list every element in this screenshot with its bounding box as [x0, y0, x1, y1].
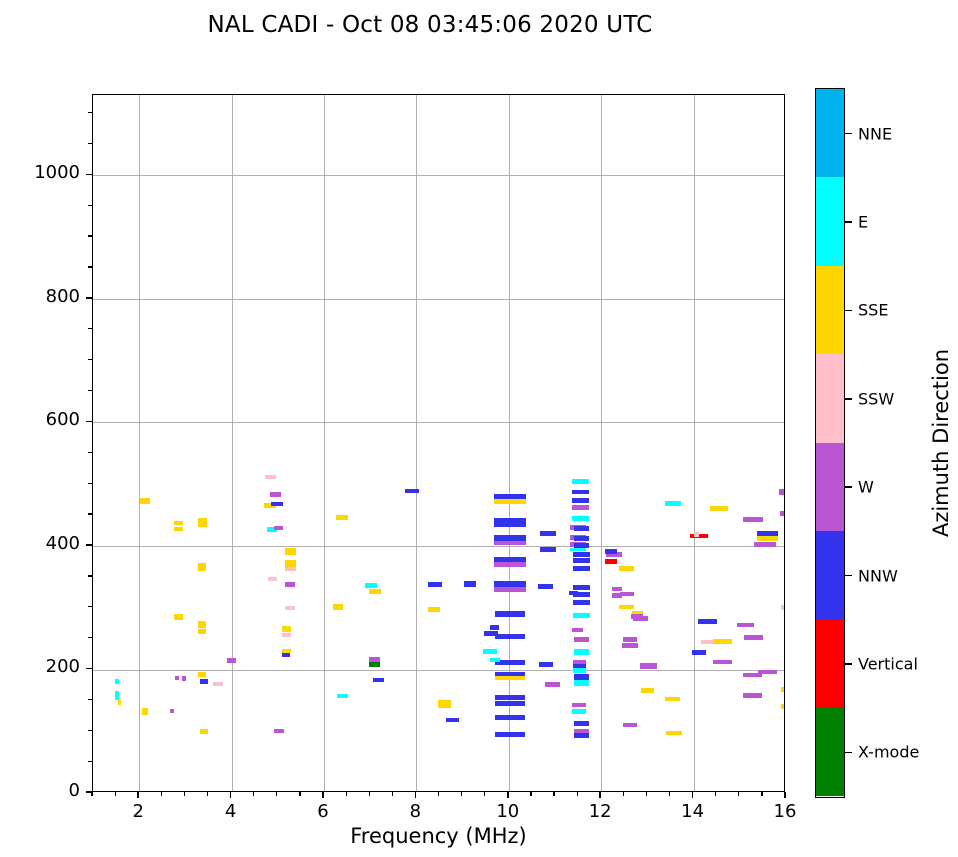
echo-mark — [665, 697, 680, 702]
gridline-vertical — [416, 95, 417, 791]
echo-mark — [545, 682, 561, 687]
echo-mark — [118, 700, 121, 705]
echo-mark — [572, 709, 586, 715]
gridline-horizontal — [93, 670, 784, 671]
echo-mark — [494, 518, 526, 528]
echo-mark — [265, 475, 276, 479]
echo-mark — [574, 637, 589, 642]
x-axis-tick — [415, 792, 417, 798]
echo-mark — [365, 583, 377, 588]
echo-mark — [690, 534, 708, 539]
y-axis-tick — [86, 668, 92, 670]
echo-mark — [619, 566, 635, 571]
echo-mark — [495, 715, 526, 721]
colorbar-segment-w — [816, 443, 844, 531]
x-axis-minor-tick — [738, 792, 739, 796]
x-axis-minor-tick — [553, 792, 554, 796]
echo-mark — [640, 663, 657, 669]
echo-mark — [170, 709, 174, 713]
echo-mark — [572, 505, 590, 511]
echo-mark — [612, 593, 622, 598]
y-axis-minor-tick — [88, 235, 92, 236]
colorbar-label-ssw: SSW — [858, 389, 894, 408]
x-axis-minor-tick — [91, 792, 92, 796]
x-axis-minor-tick — [276, 792, 277, 796]
echo-mark — [213, 682, 223, 686]
y-axis-minor-tick — [88, 483, 92, 484]
y-axis-minor-tick — [88, 699, 92, 700]
echo-mark — [605, 559, 617, 564]
echo-mark — [757, 531, 777, 536]
y-axis-tick — [86, 174, 92, 176]
echo-mark — [268, 577, 277, 581]
echo-mark — [200, 729, 207, 734]
gridline-vertical — [139, 95, 140, 791]
plot-area — [92, 94, 785, 792]
x-axis-minor-tick — [253, 792, 254, 796]
colorbar-segment-nnw — [816, 531, 844, 619]
echo-mark — [574, 733, 589, 738]
echo-mark — [540, 547, 556, 552]
x-axis-tick — [507, 792, 509, 798]
echo-mark — [743, 693, 762, 698]
echo-mark — [781, 704, 786, 709]
echo-mark — [182, 676, 186, 681]
echo-mark — [369, 657, 380, 662]
x-axis-minor-tick — [184, 792, 185, 796]
colorbar-segment-x-mode — [816, 708, 844, 796]
x-axis-tick-label: 10 — [483, 801, 533, 822]
x-axis-tick-label: 6 — [298, 801, 348, 822]
x-axis-minor-tick — [392, 792, 393, 796]
gridline-horizontal — [93, 299, 784, 300]
echo-mark — [200, 679, 207, 684]
y-axis-minor-tick — [88, 730, 92, 731]
gridline-vertical — [694, 95, 695, 791]
echo-mark — [274, 526, 283, 530]
x-axis-minor-tick — [484, 792, 485, 796]
x-axis-tick — [322, 792, 324, 798]
echo-mark — [495, 732, 526, 738]
y-axis-minor-tick — [88, 205, 92, 206]
echo-mark — [495, 634, 526, 640]
echo-mark — [605, 549, 617, 553]
x-axis-minor-tick — [530, 792, 531, 796]
colorbar-segment-ssw — [816, 354, 844, 442]
echo-mark — [464, 581, 477, 587]
echo-mark — [428, 582, 442, 587]
colorbar-tick — [845, 398, 852, 400]
echo-mark — [282, 633, 291, 637]
echo-mark — [713, 639, 732, 645]
x-axis-minor-tick — [299, 792, 300, 796]
echo-mark — [572, 516, 590, 521]
x-axis-minor-tick — [623, 792, 624, 796]
echo-mark — [285, 567, 296, 571]
colorbar-label-sse: SSE — [858, 301, 888, 320]
echo-mark — [574, 536, 590, 541]
echo-mark — [495, 695, 526, 700]
echo-mark — [758, 670, 777, 675]
echo-mark — [701, 640, 713, 644]
y-axis-tick — [86, 297, 92, 299]
echo-mark — [428, 607, 440, 612]
echo-mark — [574, 674, 590, 680]
echo-mark — [574, 649, 590, 655]
colorbar-label-w: W — [858, 478, 874, 497]
x-axis-minor-tick — [715, 792, 716, 796]
y-axis-tick — [86, 421, 92, 423]
echo-mark — [757, 536, 777, 540]
echo-mark — [570, 548, 586, 552]
echo-mark — [490, 658, 500, 662]
x-axis-tick — [692, 792, 694, 798]
y-axis-tick-label: 0 — [69, 780, 80, 801]
x-axis-tick-label: 16 — [760, 801, 810, 822]
x-axis-tick-label: 2 — [113, 801, 163, 822]
echo-mark — [754, 542, 776, 548]
echo-mark — [623, 723, 638, 728]
gridline-vertical — [232, 95, 233, 791]
echo-mark — [612, 587, 622, 591]
colorbar-label-x-mode: X-mode — [858, 743, 919, 762]
echo-mark — [743, 517, 763, 522]
echo-mark — [490, 625, 499, 630]
echo-mark — [285, 606, 295, 610]
colorbar-segment-e — [816, 177, 844, 265]
colorbar-label-nne: NNE — [858, 124, 892, 143]
y-axis-minor-tick — [88, 266, 92, 267]
echo-mark — [270, 492, 281, 497]
gridline-vertical — [601, 95, 602, 791]
y-axis-tick-label: 400 — [46, 533, 80, 554]
echo-mark — [698, 619, 717, 624]
echo-mark — [438, 704, 451, 708]
echo-mark — [619, 605, 634, 610]
echo-mark — [115, 691, 120, 700]
x-axis-tick-label: 12 — [575, 801, 625, 822]
y-axis-minor-tick — [88, 761, 92, 762]
colorbar-tick — [845, 310, 852, 312]
echo-mark — [572, 479, 590, 484]
ionogram-figure: NAL CADI - Oct 08 03:45:06 2020 UTC 0200… — [0, 0, 958, 857]
echo-mark — [573, 600, 590, 605]
x-axis-minor-tick — [761, 792, 762, 796]
echo-mark — [174, 527, 183, 531]
gridline-vertical — [324, 95, 325, 791]
x-axis-minor-tick — [577, 792, 578, 796]
x-axis-minor-tick — [207, 792, 208, 796]
echo-mark — [539, 662, 553, 667]
echo-mark — [780, 511, 786, 516]
x-axis-minor-tick — [369, 792, 370, 796]
y-axis-minor-tick — [88, 575, 92, 576]
x-axis-minor-tick — [438, 792, 439, 796]
echo-mark — [573, 613, 590, 619]
x-axis-title: Frequency (MHz) — [92, 824, 785, 848]
echo-mark — [574, 721, 589, 726]
x-axis-minor-tick — [346, 792, 347, 796]
colorbar — [815, 88, 845, 798]
x-axis-minor-tick — [646, 792, 647, 796]
colorbar-label-vertical: Vertical — [858, 655, 918, 674]
echo-mark — [574, 680, 590, 686]
echo-mark — [781, 605, 786, 611]
echo-mark — [495, 701, 526, 706]
echo-mark — [483, 649, 497, 653]
echo-mark — [494, 499, 526, 504]
echo-mark — [140, 498, 150, 504]
echo-mark — [198, 518, 207, 527]
echo-mark — [641, 688, 655, 693]
echo-mark — [572, 703, 586, 707]
echo-mark — [227, 658, 236, 663]
colorbar-tick — [845, 133, 852, 135]
colorbar-tick — [845, 752, 852, 754]
echo-mark — [573, 552, 590, 556]
y-axis-tick-label: 1000 — [34, 162, 80, 183]
echo-mark — [569, 591, 578, 595]
x-axis-minor-tick — [461, 792, 462, 796]
y-axis-minor-tick — [88, 513, 92, 514]
colorbar-tick — [845, 221, 852, 223]
y-axis-minor-tick — [88, 143, 92, 144]
echo-mark — [274, 729, 284, 733]
y-axis-minor-tick — [88, 112, 92, 113]
echo-mark — [666, 731, 682, 736]
echo-mark — [115, 679, 120, 684]
y-axis-minor-tick — [88, 452, 92, 453]
echo-mark — [494, 541, 526, 545]
echo-mark — [574, 526, 590, 531]
echo-mark — [282, 653, 290, 657]
echo-mark — [405, 489, 419, 494]
echo-mark — [573, 668, 586, 673]
echo-mark — [737, 623, 755, 628]
echo-mark — [369, 589, 381, 594]
echo-mark — [631, 614, 643, 619]
colorbar-title: Azimuth Direction — [929, 349, 953, 537]
echo-mark — [572, 490, 590, 494]
echo-mark — [622, 643, 638, 649]
colorbar-tick — [845, 663, 852, 665]
echo-mark — [713, 660, 732, 665]
colorbar-segment-sse — [816, 266, 844, 354]
echo-mark — [623, 637, 638, 642]
echo-mark — [175, 676, 179, 681]
echo-mark — [198, 629, 206, 634]
echo-mark — [710, 506, 728, 512]
echo-mark — [198, 563, 205, 570]
y-axis-tick-label: 600 — [46, 409, 80, 430]
x-axis-minor-tick — [669, 792, 670, 796]
x-axis-tick-label: 8 — [390, 801, 440, 822]
y-axis-tick-label: 200 — [46, 656, 80, 677]
y-axis-minor-tick — [88, 390, 92, 391]
echo-mark — [494, 562, 526, 566]
gridline-horizontal — [93, 175, 784, 176]
echo-mark — [692, 650, 706, 655]
gridline-vertical — [509, 95, 510, 791]
echo-mark — [174, 521, 183, 525]
echo-mark — [282, 626, 291, 632]
echo-mark — [369, 662, 380, 666]
x-axis-minor-tick — [161, 792, 162, 796]
y-axis-minor-tick — [88, 606, 92, 607]
echo-mark — [744, 635, 763, 641]
y-axis-minor-tick — [88, 637, 92, 638]
x-axis-tick — [784, 792, 786, 798]
echo-mark — [573, 558, 590, 563]
colorbar-label-nnw: NNW — [858, 566, 898, 585]
gridline-horizontal — [93, 422, 784, 423]
echo-mark — [373, 678, 384, 683]
x-axis-minor-tick — [115, 792, 116, 796]
echo-mark — [540, 531, 556, 536]
echo-mark — [271, 502, 283, 506]
x-axis-tick — [137, 792, 139, 798]
gridline-horizontal — [93, 546, 784, 547]
echo-mark — [779, 489, 785, 495]
echo-mark — [198, 672, 206, 677]
colorbar-label-e: E — [858, 213, 868, 232]
colorbar-tick — [845, 575, 852, 577]
colorbar-segment-vertical — [816, 619, 844, 707]
x-axis-tick-label: 4 — [206, 801, 256, 822]
y-axis-minor-tick — [88, 328, 92, 329]
echo-mark — [333, 604, 343, 610]
colorbar-segment-nne — [816, 89, 844, 177]
echo-mark — [336, 515, 348, 521]
echo-mark — [495, 611, 526, 617]
echo-mark — [494, 587, 526, 592]
figure-title: NAL CADI - Oct 08 03:45:06 2020 UTC — [0, 12, 860, 38]
y-axis-tick — [86, 544, 92, 546]
echo-mark — [142, 708, 148, 715]
echo-mark — [174, 614, 183, 620]
echo-mark — [572, 628, 583, 632]
echo-mark — [572, 498, 590, 503]
echo-mark — [538, 584, 553, 589]
echo-mark — [573, 585, 590, 590]
x-axis-tick — [230, 792, 232, 798]
colorbar-tick — [845, 486, 852, 488]
echo-mark — [781, 687, 786, 692]
echo-mark — [285, 582, 295, 587]
echo-mark — [446, 718, 460, 723]
echo-mark — [337, 694, 347, 699]
echo-mark — [198, 621, 206, 628]
echo-mark — [573, 566, 590, 571]
echo-mark — [495, 676, 526, 681]
x-axis-tick-label: 14 — [668, 801, 718, 822]
y-axis-minor-tick — [88, 359, 92, 360]
echo-mark — [694, 532, 699, 537]
x-axis-tick — [599, 792, 601, 798]
y-axis-tick-label: 800 — [46, 286, 80, 307]
echo-mark — [665, 501, 682, 506]
echo-mark — [285, 548, 296, 555]
